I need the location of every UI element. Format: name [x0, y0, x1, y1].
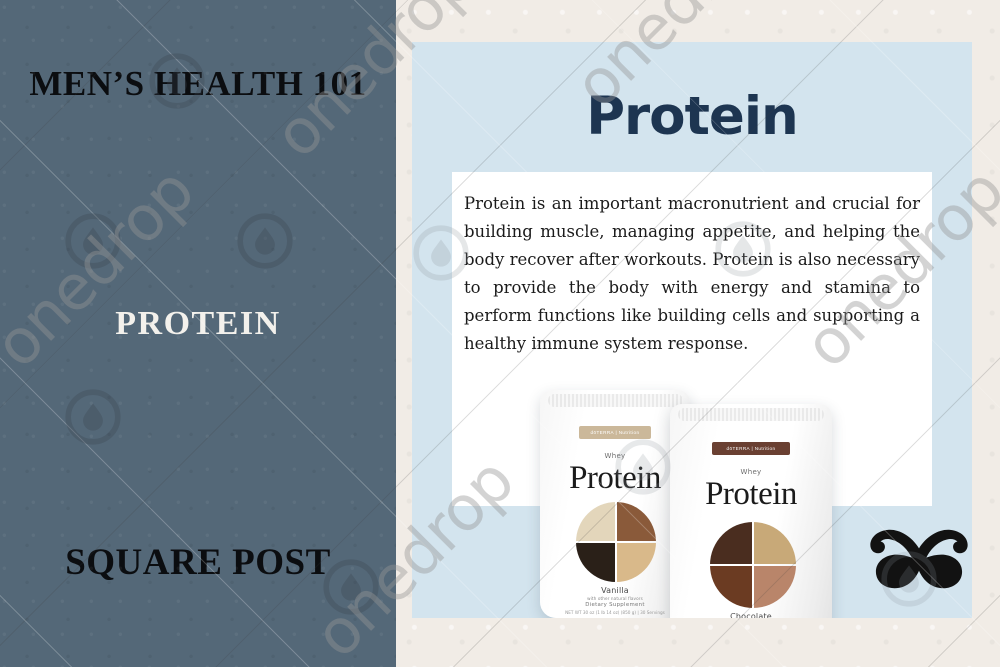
pouch-flavor: Vanilla — [540, 586, 690, 595]
product-pouch-chocolate: dōTERRA | Nutrition Whey Protein Chocola… — [670, 404, 832, 618]
pouch-flavor: Chocolate — [670, 612, 832, 618]
pouch-zipper-icon — [678, 408, 824, 421]
pouch-ingredient-circle — [576, 502, 656, 582]
quadrant-1 — [710, 522, 752, 564]
quadrant-1 — [576, 502, 615, 541]
topic-title: PROTEIN — [0, 305, 396, 343]
mustache-icon — [846, 522, 992, 600]
left-info-panel: MEN’S HEALTH 101 PROTEIN SQUARE POST — [0, 0, 396, 667]
pouch-ingredient-circle — [710, 522, 796, 608]
pouch-net-weight: NET WT 30 oz (1 lb 14 oz) (850 g) | 30 S… — [540, 610, 690, 615]
pouch-brand-banner: dōTERRA | Nutrition — [579, 426, 651, 439]
quadrant-4 — [617, 543, 656, 582]
pouch-brand-sub: Whey — [540, 452, 690, 460]
quadrant-3 — [710, 566, 752, 608]
pouch-fine-print: with other natural flavors — [540, 596, 690, 601]
pouch-product-name: Protein — [540, 460, 690, 497]
quadrant-2 — [754, 522, 796, 564]
format-title: SQUARE POST — [0, 541, 396, 584]
poster-canvas: MEN’S HEALTH 101 PROTEIN SQUARE POST Pro… — [0, 0, 1000, 667]
pouch-supplement-line: Dietary Supplement — [540, 602, 690, 608]
quadrant-4 — [754, 566, 796, 608]
product-pouch-vanilla: dōTERRA | Nutrition Whey Protein Vanilla… — [540, 390, 690, 618]
pouch-brand-banner: dōTERRA | Nutrition — [712, 442, 790, 455]
quadrant-2 — [617, 502, 656, 541]
quadrant-3 — [576, 543, 615, 582]
pouch-product-name: Protein — [670, 476, 832, 513]
pouch-brand-sub: Whey — [670, 468, 832, 476]
brand-title: MEN’S HEALTH 101 — [0, 64, 396, 104]
pouch-zipper-icon — [548, 394, 683, 407]
